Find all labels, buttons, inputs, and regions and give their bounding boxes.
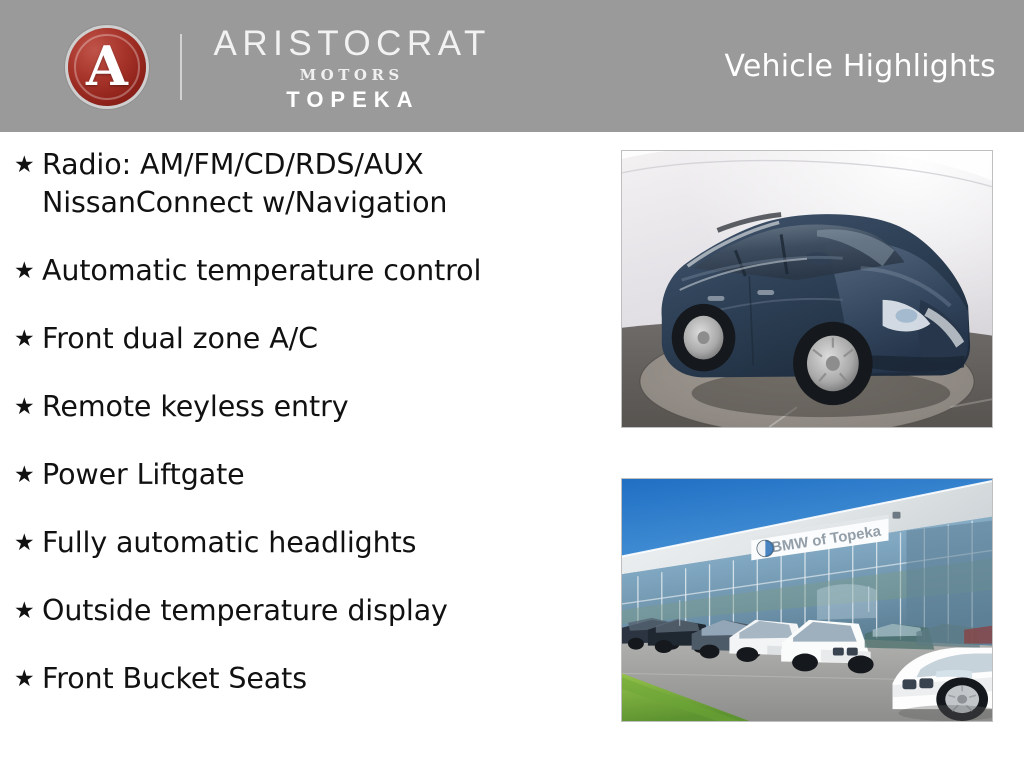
page-title: Vehicle Highlights: [725, 0, 997, 132]
brand-wordmark: ARISTOCRAT MOTORS TOPEKA: [208, 24, 491, 111]
brand-city: TOPEKA: [279, 89, 419, 111]
star-bullet-icon: ★: [8, 388, 42, 426]
feature-label: Remote keyless entry: [42, 388, 608, 426]
feature-label: Automatic temperature control: [42, 252, 608, 290]
feature-label: Front Bucket Seats: [42, 660, 608, 698]
feature-item: ★Radio: AM/FM/CD/RDS/AUX NissanConnect w…: [8, 146, 608, 222]
star-bullet-icon: ★: [8, 320, 42, 358]
star-bullet-icon: ★: [8, 456, 42, 494]
dealership-photo[interactable]: BMW of Topeka: [621, 478, 993, 722]
feature-label: Power Liftgate: [42, 456, 608, 494]
brand-name: ARISTOCRAT: [208, 26, 491, 61]
vehicle-photo[interactable]: [621, 150, 993, 428]
logo-divider: [180, 34, 182, 100]
feature-item: ★Outside temperature display: [8, 592, 608, 630]
aristocrat-badge-icon: A: [68, 28, 146, 106]
star-bullet-icon: ★: [8, 524, 42, 562]
header-bar: A ARISTOCRAT MOTORS TOPEKA Vehicle Highl…: [0, 0, 1024, 132]
star-bullet-icon: ★: [8, 146, 42, 184]
dealership-photo-graphic: BMW of Topeka: [622, 479, 992, 721]
star-bullet-icon: ★: [8, 252, 42, 290]
badge-letter: A: [86, 39, 128, 93]
feature-label: Fully automatic headlights: [42, 524, 608, 562]
slide: A ARISTOCRAT MOTORS TOPEKA Vehicle Highl…: [0, 0, 1024, 768]
feature-item: ★Front Bucket Seats: [8, 660, 608, 698]
feature-label: Outside temperature display: [42, 592, 608, 630]
vehicle-features-list: ★Radio: AM/FM/CD/RDS/AUX NissanConnect w…: [8, 146, 608, 728]
feature-item: ★Remote keyless entry: [8, 388, 608, 426]
vehicle-photo-graphic: [622, 151, 992, 427]
brand-subtitle: MOTORS: [295, 68, 404, 83]
feature-item: ★Front dual zone A/C: [8, 320, 608, 358]
star-bullet-icon: ★: [8, 660, 42, 698]
feature-item: ★Automatic temperature control: [8, 252, 608, 290]
feature-label: Radio: AM/FM/CD/RDS/AUX NissanConnect w/…: [42, 146, 608, 222]
feature-item: ★Fully automatic headlights: [8, 524, 608, 562]
feature-item: ★Power Liftgate: [8, 456, 608, 494]
dealer-logo[interactable]: A ARISTOCRAT MOTORS TOPEKA: [68, 28, 491, 106]
star-bullet-icon: ★: [8, 592, 42, 630]
feature-label: Front dual zone A/C: [42, 320, 608, 358]
